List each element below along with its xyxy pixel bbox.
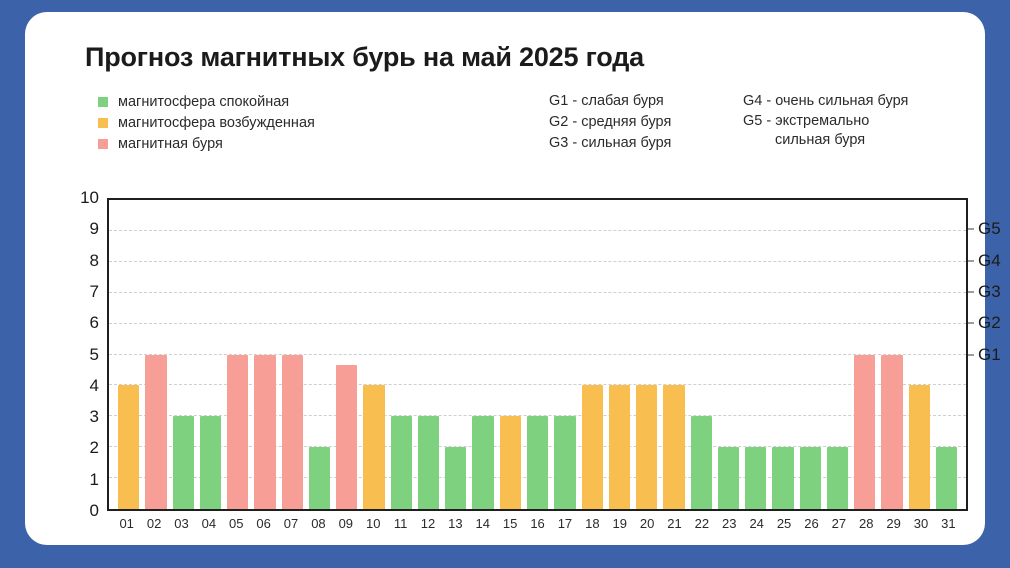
y-axis-tick-label: 5 [65,345,99,365]
y-axis-tick-label: 4 [65,376,99,396]
bar-slot[interactable] [442,200,469,509]
x-axis-tick-label: 12 [414,516,441,536]
bar[interactable] [663,385,684,509]
x-axis-tick-label: 14 [469,516,496,536]
x-axis-tick-label: 26 [798,516,825,536]
bar-slot[interactable] [906,200,933,509]
bar-slot[interactable] [769,200,796,509]
bar[interactable] [254,355,275,510]
bar[interactable] [227,355,248,510]
bar-slot[interactable] [360,200,387,509]
x-axis-tick-label: 07 [277,516,304,536]
bar-slot[interactable] [688,200,715,509]
bar[interactable] [391,416,412,509]
bar[interactable] [554,416,575,509]
bar[interactable] [745,447,766,509]
bar[interactable] [827,447,848,509]
bar-slot[interactable] [388,200,415,509]
y-axis-tick-label: 6 [65,313,99,333]
bar[interactable] [363,385,384,509]
storm-scale-entry: G1 - слабая буря [549,91,671,112]
storm-scale-entry: G5 - экстремальносильная буря [743,112,943,150]
legend-item: магнитосфера возбужденная [98,112,428,133]
x-axis-tick-label: 20 [633,516,660,536]
x-axis-tick-label: 30 [907,516,934,536]
x-axis-tick-label: 11 [387,516,414,536]
bars-layer [115,200,960,509]
g-scale-tick-mark [968,323,974,324]
bar[interactable] [718,447,739,509]
y-axis-tick-label: 2 [65,438,99,458]
x-axis-tick-label: 01 [113,516,140,536]
bar-slot[interactable] [415,200,442,509]
g-scale-tick-label: G5 [978,219,1001,239]
bar[interactable] [472,416,493,509]
y-axis-tick-label: 9 [65,219,99,239]
bar-slot[interactable] [224,200,251,509]
bar[interactable] [173,416,194,509]
y-axis-tick-label: 3 [65,407,99,427]
x-axis-tick-label: 08 [305,516,332,536]
storm-scale-entry-continuation: сильная буря [743,131,943,150]
legend-item-label: магнитная буря [118,136,223,152]
bar[interactable] [582,385,603,509]
bar[interactable] [881,355,902,510]
bar[interactable] [527,416,548,509]
bar-slot[interactable] [933,200,960,509]
x-axis-tick-label: 04 [195,516,222,536]
storm-scale-entry: G3 - сильная буря [549,133,671,154]
x-axis-tick-label: 28 [853,516,880,536]
bar[interactable] [909,385,930,509]
bar-slot[interactable] [660,200,687,509]
g-scale-tick-label: G2 [978,313,1001,333]
x-axis-tick-label: 15 [496,516,523,536]
bar-slot[interactable] [797,200,824,509]
bar[interactable] [282,355,303,510]
bar-slot[interactable] [878,200,905,509]
legend-item: магнитосфера спокойная [98,91,428,112]
storm-scale-entry: G4 - очень сильная буря [743,91,943,112]
bar[interactable] [418,416,439,509]
x-axis-tick-label: 25 [770,516,797,536]
legend-color-categories: магнитосфера спокойнаямагнитосфера возбу… [98,91,428,154]
x-axis-tick-label: 13 [442,516,469,536]
bar-slot[interactable] [251,200,278,509]
bar[interactable] [145,355,166,510]
bar-slot[interactable] [197,200,224,509]
bar-slot[interactable] [306,200,333,509]
bar-slot[interactable] [170,200,197,509]
x-axis-tick-label: 09 [332,516,359,536]
x-axis-tick-label: 18 [579,516,606,536]
bar-slot[interactable] [524,200,551,509]
bar[interactable] [609,385,630,509]
bar[interactable] [500,416,521,509]
x-axis-tick-label: 05 [223,516,250,536]
g-scale-tick-mark [968,291,974,292]
bar-slot[interactable] [469,200,496,509]
bar-slot[interactable] [497,200,524,509]
bar-slot[interactable] [579,200,606,509]
g-scale-axis: G1G2G3G4G5 [968,198,1010,511]
x-axis-tick-label: 03 [168,516,195,536]
g-scale-tick-label: G1 [978,345,1001,365]
x-axis-tick-label: 23 [716,516,743,536]
y-axis-labels: 012345678910 [55,198,99,511]
x-axis-tick-label: 22 [688,516,715,536]
legend-item-label: магнитосфера спокойная [118,94,289,110]
storm-scale-entry: G2 - средняя буря [549,112,671,133]
bar[interactable] [636,385,657,509]
storm-scale-entry-main: G4 - очень сильная буря [743,93,908,109]
square-swatch-icon [98,118,108,128]
bar[interactable] [336,365,357,509]
y-axis-tick-label: 10 [65,188,99,208]
storm-scale-entry-main: G5 - экстремально [743,113,869,129]
bar-slot[interactable] [742,200,769,509]
page-title: Прогноз магнитных бурь на май 2025 года [85,42,644,73]
bar-slot[interactable] [824,200,851,509]
g-scale-tick-mark [968,354,974,355]
bar-slot[interactable] [606,200,633,509]
bar-slot[interactable] [851,200,878,509]
y-axis-tick-label: 7 [65,282,99,302]
legend-storm-scale-column-1: G1 - слабая буряG2 - средняя буряG3 - си… [549,91,671,154]
bar-slot[interactable] [633,200,660,509]
legend-storm-scale-column-2: G4 - очень сильная буряG5 - экстремально… [743,91,943,150]
x-axis-tick-label: 21 [661,516,688,536]
bar-slot[interactable] [551,200,578,509]
y-axis-tick-label: 1 [65,470,99,490]
bar[interactable] [854,355,875,510]
g-scale-tick-label: G4 [978,251,1001,271]
bar-slot[interactable] [715,200,742,509]
y-axis-tick-label: 8 [65,251,99,271]
x-axis-tick-label: 06 [250,516,277,536]
bar[interactable] [309,447,330,509]
g-scale-tick-mark [968,229,974,230]
bar[interactable] [691,416,712,509]
bar[interactable] [800,447,821,509]
square-swatch-icon [98,97,108,107]
x-axis-tick-label: 24 [743,516,770,536]
x-axis-tick-label: 16 [524,516,551,536]
legend-item: магнитная буря [98,133,428,154]
bar-slot[interactable] [279,200,306,509]
bar[interactable] [445,447,466,509]
g-scale-tick-mark [968,260,974,261]
x-axis-tick-label: 10 [360,516,387,536]
g-scale-tick-label: G3 [978,282,1001,302]
x-axis-tick-label: 19 [606,516,633,536]
x-axis-tick-label: 02 [140,516,167,536]
x-axis-tick-label: 17 [551,516,578,536]
bar[interactable] [772,447,793,509]
bar-slot[interactable] [142,200,169,509]
square-swatch-icon [98,139,108,149]
bar-slot[interactable] [115,200,142,509]
bar[interactable] [200,416,221,509]
x-axis-tick-label: 27 [825,516,852,536]
x-axis-day-labels: 0102030405060708091011121314151617181920… [113,516,962,536]
bar-slot[interactable] [333,200,360,509]
chart-card: Прогноз магнитных бурь на май 2025 года … [25,12,985,545]
bar-chart-plot-area [107,198,968,511]
y-axis-tick-label: 0 [65,501,99,521]
bar[interactable] [118,385,139,509]
x-axis-tick-label: 29 [880,516,907,536]
legend-item-label: магнитосфера возбужденная [118,115,315,131]
bar[interactable] [936,447,957,509]
x-axis-tick-label: 31 [935,516,962,536]
